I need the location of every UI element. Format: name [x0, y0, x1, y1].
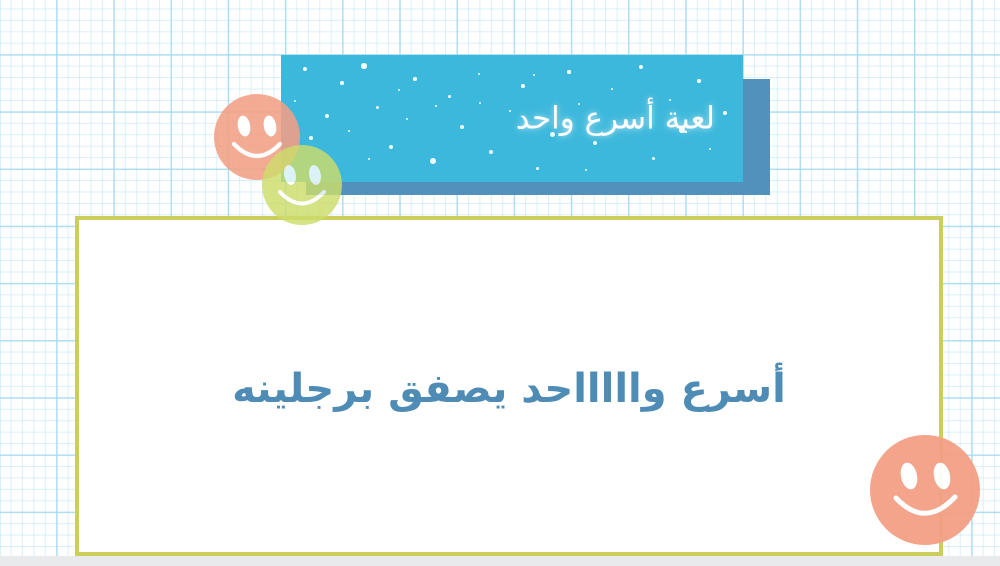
banner-speckle	[361, 63, 366, 68]
banner-speckle	[430, 158, 436, 164]
banner-speckle	[585, 169, 587, 171]
banner-speckle	[368, 158, 371, 161]
banner-speckle	[536, 167, 539, 170]
title-banner: لعبة أسرع واحد	[281, 55, 743, 182]
banner-speckle	[652, 157, 655, 160]
banner-speckle	[709, 148, 712, 151]
banner-title-text: لعبة أسرع واحد	[281, 99, 715, 138]
content-card: أسرع واااااحد يصفق برجلينه	[75, 216, 943, 556]
bottom-strip	[0, 556, 1000, 566]
banner-speckle	[697, 79, 700, 82]
banner-speckle	[489, 150, 493, 154]
banner-speckle	[567, 70, 570, 73]
smiley-face-icon-pink-bottom	[870, 435, 980, 545]
smiley-face-icon-green	[262, 145, 342, 225]
banner-speckle	[303, 67, 307, 71]
banner-speckle	[413, 77, 416, 80]
banner-speckle	[448, 95, 451, 98]
banner-speckle	[639, 65, 644, 70]
slide-canvas: لعبة أسرع واحد أسرع واااااحد يصفق برجلين…	[0, 0, 1000, 566]
banner-speckle	[389, 145, 394, 150]
banner-speckle	[611, 88, 614, 91]
banner-speckle	[478, 73, 481, 76]
card-main-text: أسرع واااااحد يصفق برجلينه	[79, 362, 939, 416]
banner-speckle	[723, 111, 727, 115]
banner-speckle	[593, 141, 597, 145]
banner-speckle	[521, 84, 524, 87]
banner-speckle	[398, 89, 400, 91]
banner-speckle	[533, 74, 535, 76]
banner-speckle	[340, 81, 343, 84]
